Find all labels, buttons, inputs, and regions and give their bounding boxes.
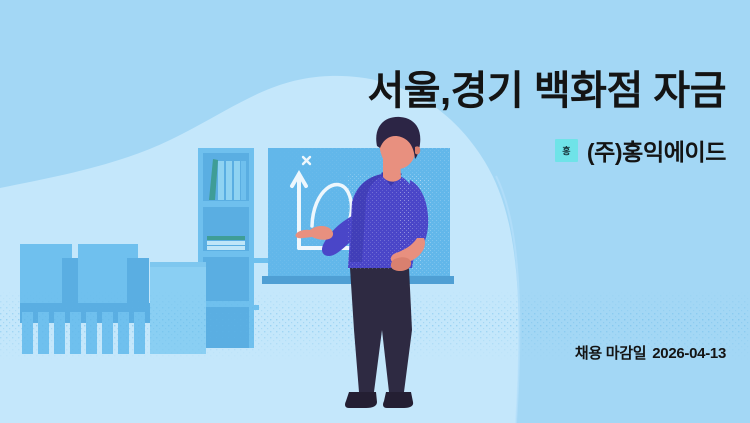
job-posting-banner: 서울,경기 백화점 자금 홍 (주)홍익에이드 채용 마감일2026-04-13 bbox=[0, 0, 750, 423]
company-row: 홍 (주)홍익에이드 bbox=[555, 133, 726, 167]
person-shoe-right bbox=[383, 392, 413, 408]
deadline-date: 2026-04-13 bbox=[652, 345, 726, 362]
company-logo-badge: 홍 bbox=[555, 139, 578, 162]
page-title: 서울,경기 백화점 자금 bbox=[367, 68, 726, 114]
person-shoe-left bbox=[345, 392, 377, 408]
company-name: (주)홍익에이드 bbox=[587, 133, 726, 167]
deadline-label: 채용 마감일 bbox=[575, 345, 646, 362]
deadline-info: 채용 마감일2026-04-13 bbox=[575, 342, 726, 363]
